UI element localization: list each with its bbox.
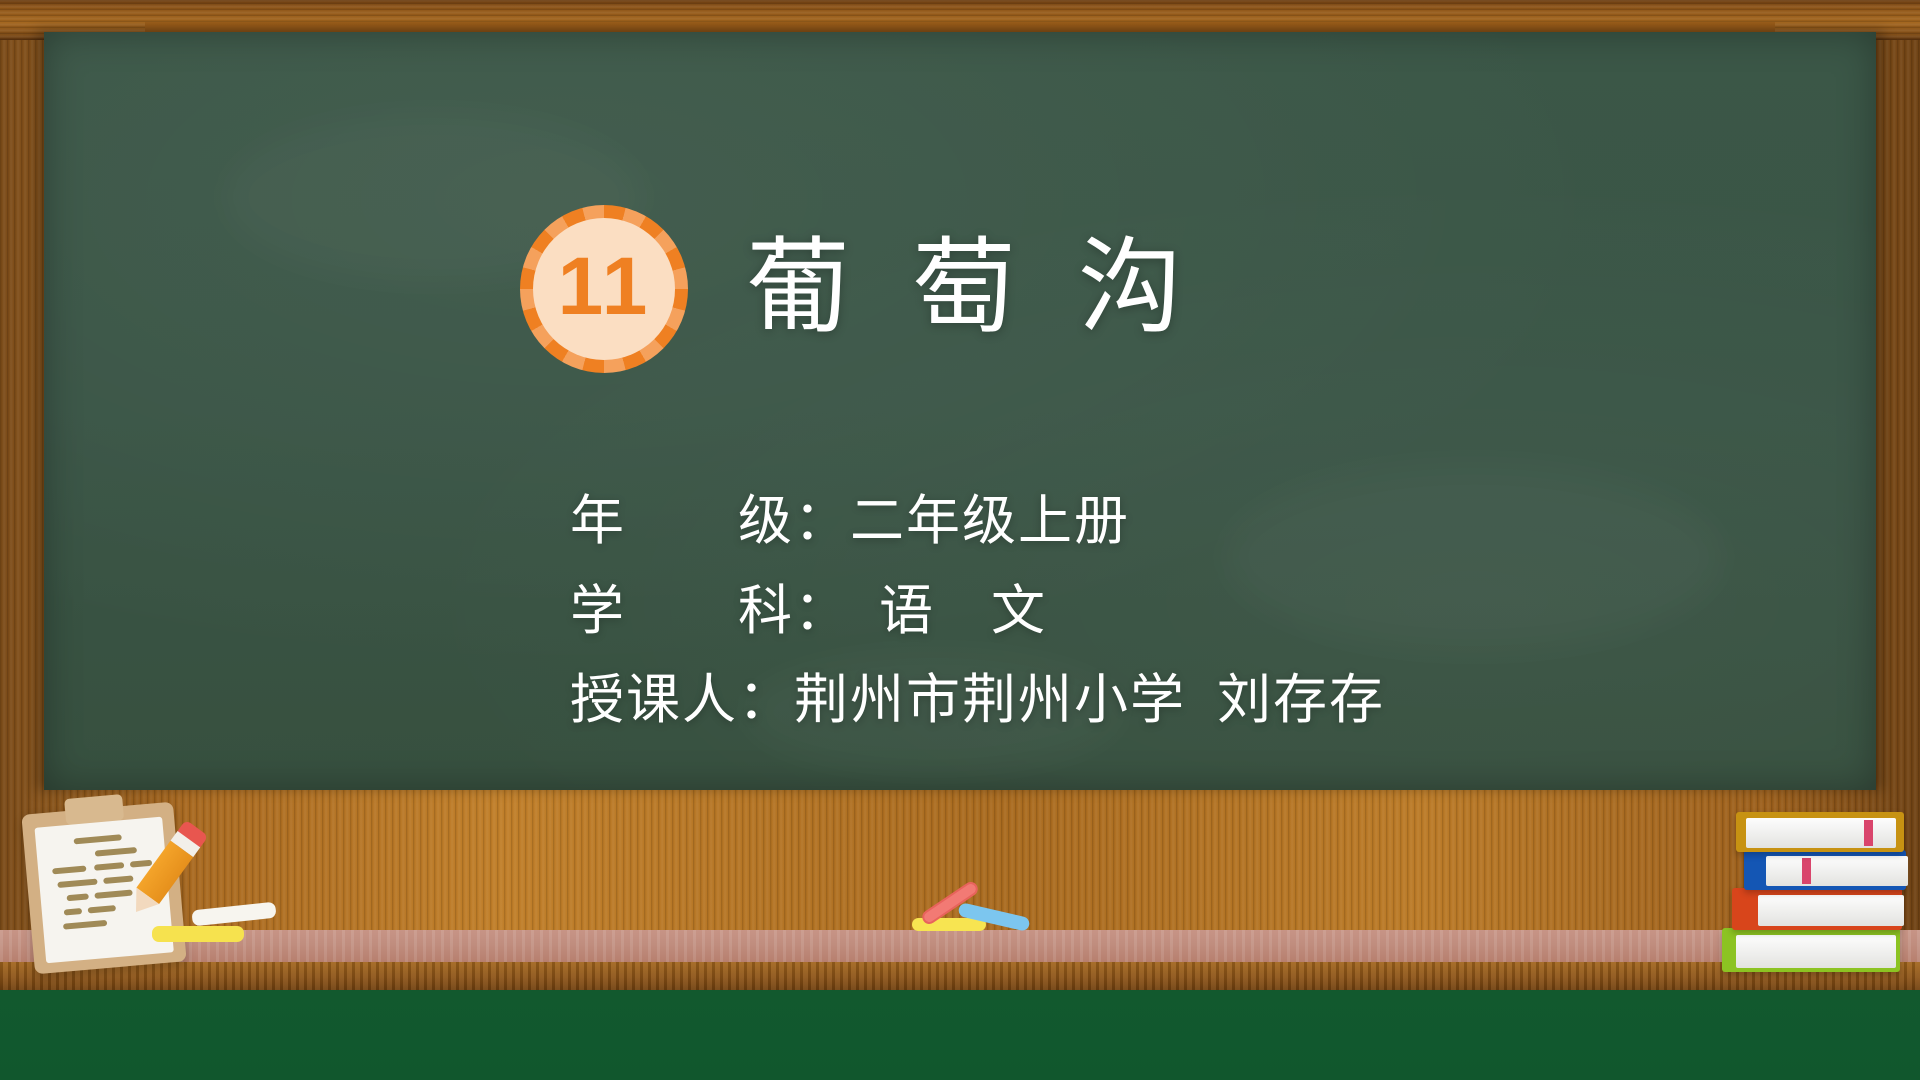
- paper-text-line: [94, 862, 124, 871]
- chalk-stick-white-icon: [191, 902, 276, 927]
- decoration-group-left: [10, 780, 310, 965]
- info-line-subject: 学 科： 语 文: [570, 580, 1385, 644]
- paper-text-line: [88, 905, 116, 913]
- decoration-group-center: [900, 890, 1060, 940]
- lesson-number-text: 11: [520, 205, 688, 373]
- paper-text-line: [57, 879, 97, 888]
- book-green: [1722, 928, 1900, 972]
- paper-text-line: [94, 890, 132, 899]
- info-line-teacher: 授课人：荆州市荆州小学 刘存存: [570, 669, 1385, 733]
- book-pages: [1766, 856, 1908, 886]
- paper-text-line: [64, 908, 82, 916]
- book-stack-icon: [1718, 800, 1908, 980]
- paper-text-line: [130, 860, 152, 868]
- book-pages: [1758, 895, 1904, 926]
- chalk-ledge-front: [0, 962, 1920, 990]
- paper-text-line: [52, 865, 86, 874]
- lesson-title-row: 11 葡 萄 沟: [520, 205, 1200, 373]
- info-line-grade: 年 级：二年级上册: [570, 490, 1385, 554]
- book-bookmark: [1802, 858, 1811, 884]
- lesson-info-block: 年 级：二年级上册 学 科： 语 文 授课人：荆州市荆州小学 刘存存: [570, 490, 1385, 733]
- paper-text-line: [74, 834, 122, 844]
- slide-canvas: 11 葡 萄 沟 年 级：二年级上册 学 科： 语 文 授课人：荆州市荆州小学 …: [0, 0, 1920, 1080]
- page-title: 葡 萄 沟: [746, 237, 1200, 341]
- paper-text-line: [103, 875, 133, 884]
- book-pages: [1736, 935, 1896, 968]
- book-pages: [1746, 818, 1896, 848]
- chalk-stick-yellow-icon: [152, 926, 244, 942]
- paper-text-line: [66, 893, 88, 901]
- book-blue: [1744, 850, 1906, 890]
- book-bookmark: [1864, 820, 1873, 846]
- paper-text-line: [95, 847, 137, 857]
- book-red: [1732, 888, 1902, 930]
- book-gold: [1736, 812, 1904, 852]
- paper-text-line: [63, 920, 107, 930]
- lesson-number-badge: 11: [520, 205, 688, 373]
